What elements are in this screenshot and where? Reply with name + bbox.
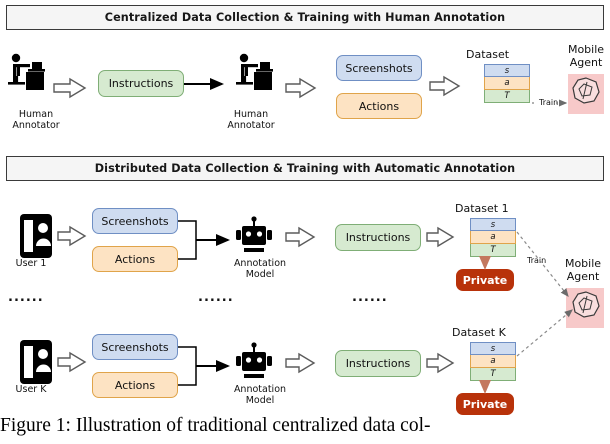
private-badge-row2: Private bbox=[456, 393, 514, 415]
ellipsis-models: ...... bbox=[198, 295, 234, 301]
figure-canvas: Centralized Data Collection & Training w… bbox=[0, 0, 610, 444]
section-header-distributed-label: Distributed Data Collection & Training w… bbox=[95, 162, 515, 175]
arrow-annotator-to-instructions bbox=[54, 79, 85, 97]
figure-caption: Figure 1: Illustration of traditional ce… bbox=[0, 415, 610, 437]
screenshots-label: Screenshots bbox=[101, 215, 168, 228]
instructions-label: Instructions bbox=[346, 357, 411, 370]
dataset-row-s: s bbox=[470, 218, 516, 231]
human-annotator-desk-icon bbox=[8, 54, 45, 90]
dataset-row-s: s bbox=[470, 342, 516, 355]
dataset-row-s: s bbox=[484, 64, 530, 77]
dataset-row-t: T bbox=[470, 368, 516, 381]
dataset-row-a: a bbox=[470, 231, 516, 244]
dataset-title-centralized: Dataset bbox=[466, 48, 509, 61]
annotation-model-caption-row2: Annotation Model bbox=[222, 384, 298, 406]
human-annotator-2-caption: Human Annotator bbox=[215, 109, 287, 131]
robot-icon-1 bbox=[236, 216, 272, 252]
actions-box-row1: Actions bbox=[92, 246, 178, 272]
mobile-agent-box-centralized bbox=[568, 74, 604, 114]
actions-box-row2: Actions bbox=[92, 372, 178, 398]
ellipsis-users: ...... bbox=[8, 295, 44, 301]
train-label-distributed: Train bbox=[527, 256, 546, 265]
instructions-label: Instructions bbox=[109, 77, 174, 90]
ellipsis-instructions: ...... bbox=[352, 295, 388, 301]
screenshots-label: Screenshots bbox=[345, 62, 412, 75]
bracket-row1 bbox=[178, 221, 196, 259]
arrow-instructions1-to-dataset bbox=[427, 228, 453, 246]
arrow-user1-to-data bbox=[58, 227, 85, 245]
dataset-stack-centralized: s a T bbox=[484, 64, 530, 103]
mobile-agent-box-distributed bbox=[566, 288, 604, 328]
bracket-row2 bbox=[178, 347, 196, 385]
arrow-model1-to-instructions bbox=[286, 228, 314, 246]
private-badge-row1: Private bbox=[456, 269, 514, 291]
screenshots-box-row2: Screenshots bbox=[92, 334, 178, 360]
actions-label: Actions bbox=[359, 100, 399, 113]
dataset-row-a: a bbox=[484, 77, 530, 90]
arrow-userk-to-data bbox=[58, 353, 85, 371]
actions-label: Actions bbox=[115, 379, 155, 392]
mobile-agent-label-distributed: Mobile Agent bbox=[556, 258, 610, 283]
arrow-annotator-to-data bbox=[286, 79, 315, 97]
section-header-distributed: Distributed Data Collection & Training w… bbox=[6, 156, 604, 181]
actions-label: Actions bbox=[115, 253, 155, 266]
arrow-data-to-dataset bbox=[430, 77, 459, 95]
dataset-row-t: T bbox=[484, 90, 530, 103]
dataset-stack-row2: s a T bbox=[470, 342, 516, 381]
user-1-caption: User 1 bbox=[0, 258, 62, 269]
dataset-stack-row1: s a T bbox=[470, 218, 516, 257]
annotation-model-caption-row1: Annotation Model bbox=[222, 258, 298, 280]
dataset-title-row2: Dataset K bbox=[452, 326, 506, 339]
dataset-row-t: T bbox=[470, 244, 516, 257]
train-label-centralized: Train bbox=[539, 98, 558, 107]
phone-user-icon-2 bbox=[20, 340, 52, 384]
screenshots-box-row1: Screenshots bbox=[92, 208, 178, 234]
phone-user-icon-1 bbox=[20, 214, 52, 258]
section-header-centralized-label: Centralized Data Collection & Training w… bbox=[105, 11, 505, 24]
user-k-caption: User K bbox=[0, 384, 62, 395]
robot-icon-2 bbox=[236, 342, 272, 378]
train-dotted-row2 bbox=[517, 310, 572, 356]
instructions-box-row2: Instructions bbox=[335, 350, 421, 377]
arrow-model2-to-instructions bbox=[286, 354, 314, 372]
instructions-box-row1: Instructions bbox=[335, 224, 421, 251]
screenshots-label: Screenshots bbox=[101, 341, 168, 354]
human-annotator-1-caption: Human Annotator bbox=[0, 109, 72, 131]
mobile-agent-label-centralized: Mobile Agent bbox=[563, 44, 609, 69]
human-annotator-desk-icon-2 bbox=[236, 54, 273, 90]
screenshots-box-centralized: Screenshots bbox=[336, 55, 422, 81]
instructions-box-centralized: Instructions bbox=[98, 70, 184, 97]
dataset-row-a: a bbox=[470, 355, 516, 368]
instructions-label: Instructions bbox=[346, 231, 411, 244]
dataset-title-row1: Dataset 1 bbox=[455, 202, 509, 215]
actions-box-centralized: Actions bbox=[336, 93, 422, 119]
arrow-instructions2-to-dataset bbox=[427, 354, 453, 372]
section-header-centralized: Centralized Data Collection & Training w… bbox=[6, 5, 604, 30]
